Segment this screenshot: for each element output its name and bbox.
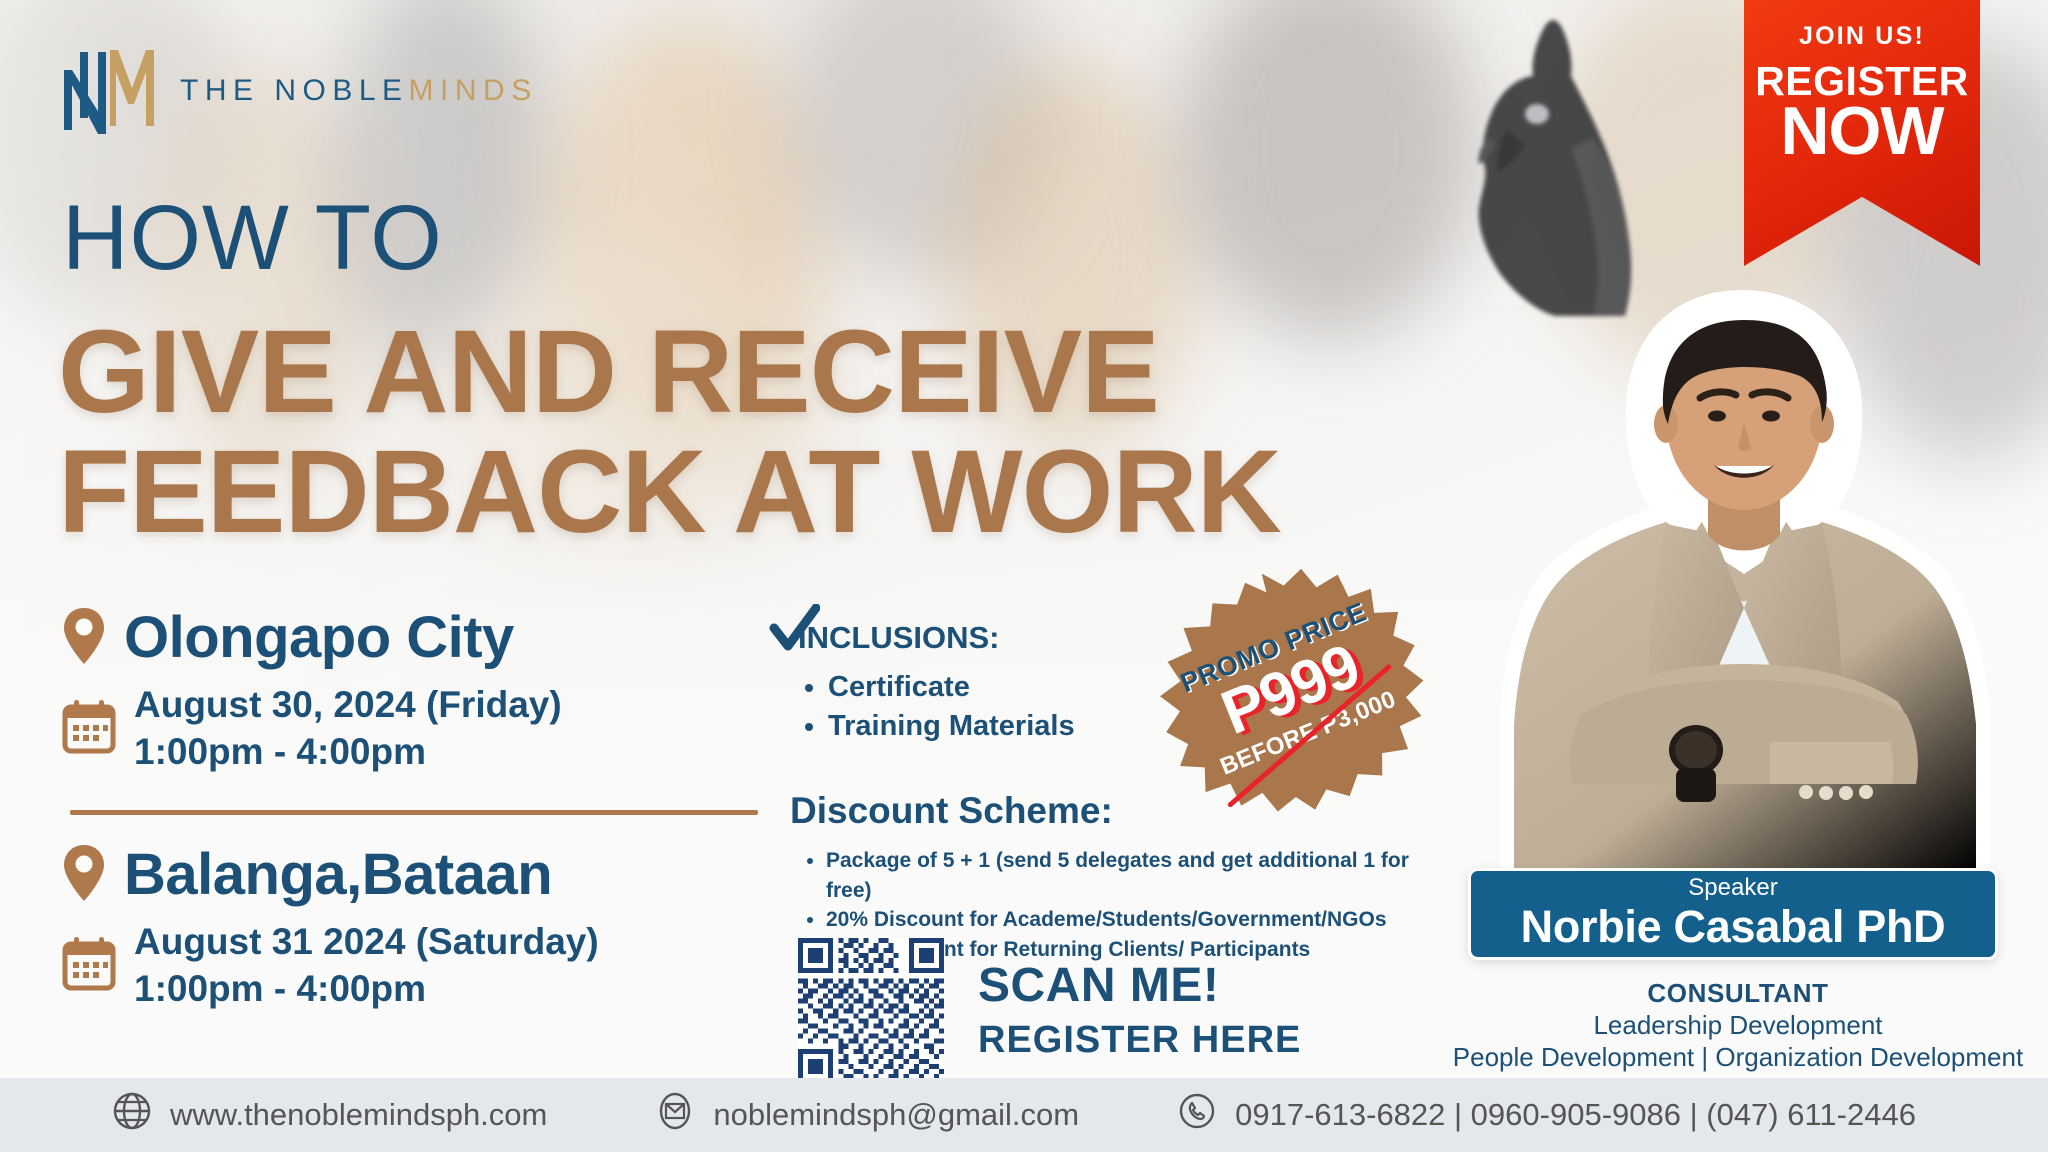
inclusions-heading: INCLUSIONS: (798, 620, 1000, 655)
ribbon-join-label: JOIN US! (1799, 22, 1925, 51)
event-date: August 30, 2024 (Friday) (134, 681, 562, 728)
footer-email-text: noblemindsph@gmail.com (713, 1097, 1079, 1133)
calendar-icon (62, 935, 116, 996)
event-location-row: Balanga,Bataan (62, 843, 762, 908)
footer-phone-text: 0917-613-6822 | 0960-905-9086 | (047) 61… (1235, 1097, 1916, 1133)
event-city: Olongapo City (124, 608, 514, 669)
event-time: 1:00pm - 4:00pm (134, 965, 599, 1012)
speaker-portrait (1470, 272, 2030, 872)
page-title-line2: FEEDBACK AT WORK (58, 432, 1478, 552)
contact-footer: www.thenoblemindsph.com noblemindsph@gma… (0, 1078, 2048, 1152)
list-item: Package of 5 + 1 (send 5 delegates and g… (826, 846, 1430, 906)
page-title-line1: GIVE AND RECEIVE (58, 312, 1478, 432)
qr-code-icon[interactable] (798, 938, 944, 1084)
ribbon-now-label: NOW (1780, 100, 1943, 163)
page-title: GIVE AND RECEIVE FEEDBACK AT WORK (58, 312, 1478, 553)
footer-phone-item[interactable]: 0917-613-6822 | 0960-905-9086 | (047) 61… (1177, 1091, 1916, 1139)
event-date: August 31 2024 (Saturday) (134, 918, 599, 965)
speaker-name-plate: Speaker Norbie Casabal PhD (1468, 868, 1998, 960)
footer-website-item[interactable]: www.thenoblemindsph.com (112, 1091, 547, 1139)
phone-icon (1177, 1091, 1217, 1139)
speaker-credential-title: CONSULTANT (1432, 978, 2044, 1009)
brand-logo-text: THE NOBLEMINDS (180, 74, 538, 108)
speaker-credential-line2: People Development | Organization Develo… (1432, 1041, 2044, 1073)
event-item-balanga: Balanga,Bataan (62, 843, 762, 1013)
calendar-icon (62, 698, 116, 759)
event-time: 1:00pm - 4:00pm (134, 728, 562, 775)
speaker-credentials: CONSULTANT Leadership Development People… (1432, 978, 2044, 1073)
register-here-label: REGISTER HERE (978, 1020, 1301, 1062)
envelope-icon (655, 1091, 695, 1139)
event-city: Balanga,Bataan (124, 845, 552, 906)
brand-logo-text-primary: THE NOBLE (180, 74, 409, 107)
location-pin-icon (62, 606, 106, 671)
brand-logo-text-secondary: MINDS (409, 74, 538, 107)
event-datetime: August 30, 2024 (Friday) 1:00pm - 4:00pm (134, 681, 562, 776)
page-kicker: HOW TO (62, 192, 443, 284)
event-datetime: August 31 2024 (Saturday) 1:00pm - 4:00p… (134, 918, 599, 1013)
footer-website-text: www.thenoblemindsph.com (170, 1097, 547, 1133)
list-item: 20% Discount for Academe/Students/Govern… (826, 905, 1430, 935)
event-location-row: Olongapo City (62, 606, 762, 671)
brand-logo: THE NOBLEMINDS (58, 48, 538, 134)
location-pin-icon (62, 843, 106, 908)
event-datetime-row: August 30, 2024 (Friday) 1:00pm - 4:00pm (62, 681, 762, 776)
globe-icon (112, 1091, 152, 1139)
scan-me-label: SCAN ME! (978, 960, 1301, 1012)
speaker-credential-line1: Leadership Development (1432, 1009, 2044, 1041)
speaker-name: Norbie Casabal PhD (1521, 902, 1946, 952)
event-datetime-row: August 31 2024 (Saturday) 1:00pm - 4:00p… (62, 918, 762, 1013)
poster-canvas: THE NOBLEMINDS JOIN US! REGISTER NOW HOW… (0, 0, 2048, 1152)
checkmark-icon (768, 604, 820, 664)
event-item-olongapo: Olongapo City (62, 606, 762, 776)
footer-email-item[interactable]: noblemindsph@gmail.com (655, 1091, 1079, 1139)
speaker-role-label: Speaker (1688, 876, 1777, 900)
event-list: Olongapo City (62, 606, 762, 1012)
event-divider (70, 810, 758, 815)
nm-monogram-icon (58, 48, 166, 134)
scan-me-text-block: SCAN ME! REGISTER HERE (978, 960, 1301, 1062)
qr-register-row[interactable]: SCAN ME! REGISTER HERE (798, 938, 1301, 1084)
